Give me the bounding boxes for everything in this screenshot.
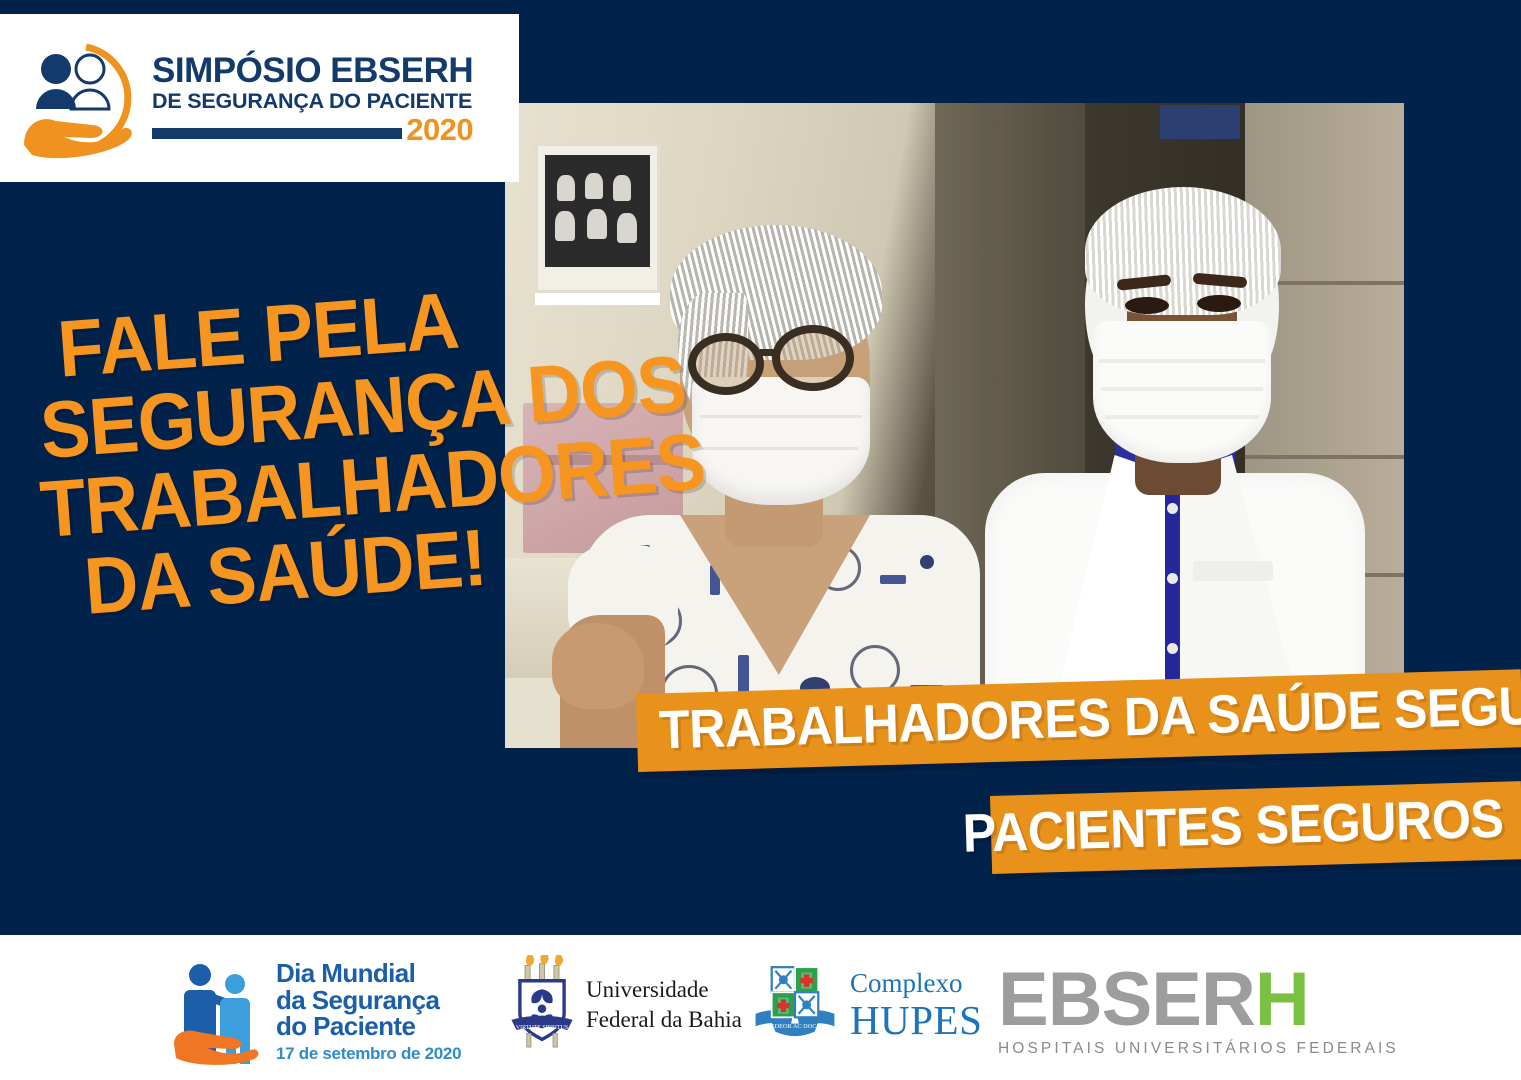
worker-one-hand	[552, 623, 644, 709]
hupes-logo: MEDEOR AC DOCEO Complexo HUPES	[752, 958, 982, 1053]
ufba-name: Universidade Federal da Bahia	[586, 975, 742, 1034]
logo-title: SIMPÓSIO EBSERH	[152, 53, 473, 88]
event-logo: SIMPÓSIO EBSERH DE SEGURANÇA DO PACIENTE…	[0, 14, 519, 182]
hupes-line-1: Complexo	[850, 969, 982, 997]
worker-two-hairnet	[1085, 187, 1281, 315]
world-patient-safety-day-logo: Dia Mundial da Segurança do Paciente 17 …	[172, 958, 461, 1066]
ebserh-wordmark: EBSERH	[998, 966, 1399, 1034]
ebserh-subtitle: HOSPITAIS UNIVERSITÁRIOS FEDERAIS	[998, 1040, 1399, 1058]
worker-one-glasses-right	[772, 325, 854, 391]
ufba-crest-icon: VIRTUTE SPIRITUS	[508, 955, 576, 1054]
wsp-line-3: do Paciente	[276, 1013, 461, 1040]
photo-worker-two	[975, 173, 1375, 748]
worker-one-glasses-left	[688, 333, 764, 395]
worker-one-glasses-bridge	[760, 349, 778, 356]
logo-year: 2020	[406, 117, 473, 143]
photo-person	[557, 175, 575, 201]
ufba-line-2: Federal da Bahia	[586, 1005, 742, 1034]
worker-two-mask	[1093, 321, 1271, 463]
poster-canvas: FALE PELA SEGURANÇA DOS TRABALHADORES DA…	[0, 0, 1521, 1080]
logo-rule	[152, 128, 402, 139]
wsp-line-1: Dia Mundial	[276, 960, 461, 987]
wsp-line-2: da Segurança	[276, 987, 461, 1014]
worker-two-mask-fold	[1105, 415, 1259, 419]
ufba-line-1: Universidade	[586, 975, 742, 1004]
tagline-text-two: PACIENTES SEGUROS	[962, 788, 1504, 865]
photo-person	[585, 173, 603, 199]
wsp-date: 17 de setembro de 2020	[276, 1044, 461, 1064]
worker-one-mask-fold	[702, 447, 858, 450]
hupes-name: Complexo HUPES	[850, 969, 982, 1042]
event-logo-text: SIMPÓSIO EBSERH DE SEGURANÇA DO PACIENTE…	[152, 53, 473, 143]
hand-holding-people-icon	[18, 33, 148, 163]
photo-wall-sign	[1160, 105, 1240, 139]
world-patient-safety-day-text: Dia Mundial da Segurança do Paciente 17 …	[276, 960, 461, 1064]
top-navy-strip	[0, 0, 1521, 14]
worker-two-mask-fold	[1101, 387, 1263, 391]
logo-year-row: 2020	[152, 117, 473, 143]
ebserh-word-accent: H	[1255, 957, 1309, 1042]
ebserh-word-main: EBSER	[998, 957, 1255, 1042]
ebserh-logo: EBSERH HOSPITAIS UNIVERSITÁRIOS FEDERAIS	[998, 966, 1399, 1058]
worker-one-mask	[692, 377, 870, 505]
photo-person	[613, 175, 631, 201]
two-people-hand-icon	[172, 958, 268, 1066]
worker-two-eye-right	[1197, 295, 1241, 312]
hupes-crest-icon: MEDEOR AC DOCEO	[752, 958, 838, 1053]
headline: FALE PELA SEGURANÇA DOS TRABALHADORES DA…	[0, 276, 560, 588]
ufba-logo: VIRTUTE SPIRITUS Universidade Federal da…	[508, 955, 742, 1054]
worker-two-coat-pocket	[1193, 561, 1273, 581]
worker-one-mask-fold	[700, 415, 862, 418]
tagline-banner-two: PACIENTES SEGUROS	[990, 781, 1521, 874]
ufba-motto: VIRTUTE SPIRITUS	[516, 1025, 568, 1031]
logo-subtitle: DE SEGURANÇA DO PACIENTE	[152, 89, 473, 114]
worker-two-mask-fold	[1099, 359, 1265, 363]
hupes-motto: MEDEOR AC DOCEO	[765, 1023, 825, 1030]
worker-two-eye-left	[1125, 297, 1169, 314]
hupes-line-2: HUPES	[850, 999, 982, 1042]
